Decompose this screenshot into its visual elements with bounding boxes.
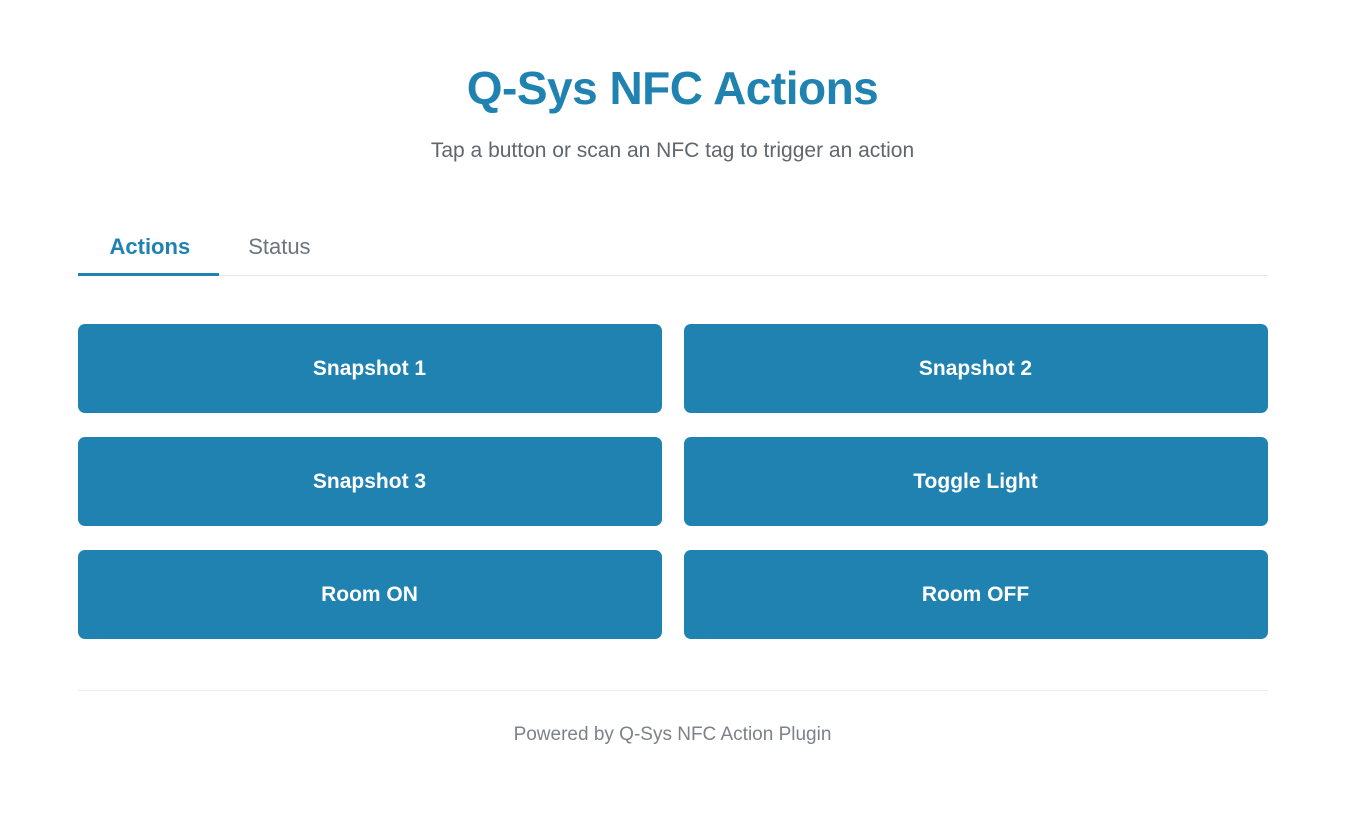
tab-actions[interactable]: Actions bbox=[78, 236, 220, 275]
page-footer: Powered by Q-Sys NFC Action Plugin bbox=[78, 690, 1268, 748]
page-title: Q-Sys NFC Actions bbox=[78, 62, 1268, 115]
app-page: Q-Sys NFC Actions Tap a button or scan a… bbox=[0, 0, 1345, 833]
action-button-snapshot-3[interactable]: Snapshot 3 bbox=[78, 437, 662, 526]
action-button-toggle-light[interactable]: Toggle Light bbox=[684, 437, 1268, 526]
tab-bar: Actions Status bbox=[78, 219, 1268, 276]
actions-grid: Snapshot 1 Snapshot 2 Snapshot 3 Toggle … bbox=[78, 324, 1268, 639]
page-container: Q-Sys NFC Actions Tap a button or scan a… bbox=[78, 0, 1268, 748]
page-header: Q-Sys NFC Actions Tap a button or scan a… bbox=[78, 62, 1268, 164]
tab-status[interactable]: Status bbox=[219, 236, 339, 275]
action-button-snapshot-1[interactable]: Snapshot 1 bbox=[78, 324, 662, 413]
footer-text: Powered by Q-Sys NFC Action Plugin bbox=[78, 723, 1268, 748]
action-button-room-on[interactable]: Room ON bbox=[78, 550, 662, 639]
page-subtitle: Tap a button or scan an NFC tag to trigg… bbox=[78, 137, 1268, 164]
action-button-room-off[interactable]: Room OFF bbox=[684, 550, 1268, 639]
action-button-snapshot-2[interactable]: Snapshot 2 bbox=[684, 324, 1268, 413]
